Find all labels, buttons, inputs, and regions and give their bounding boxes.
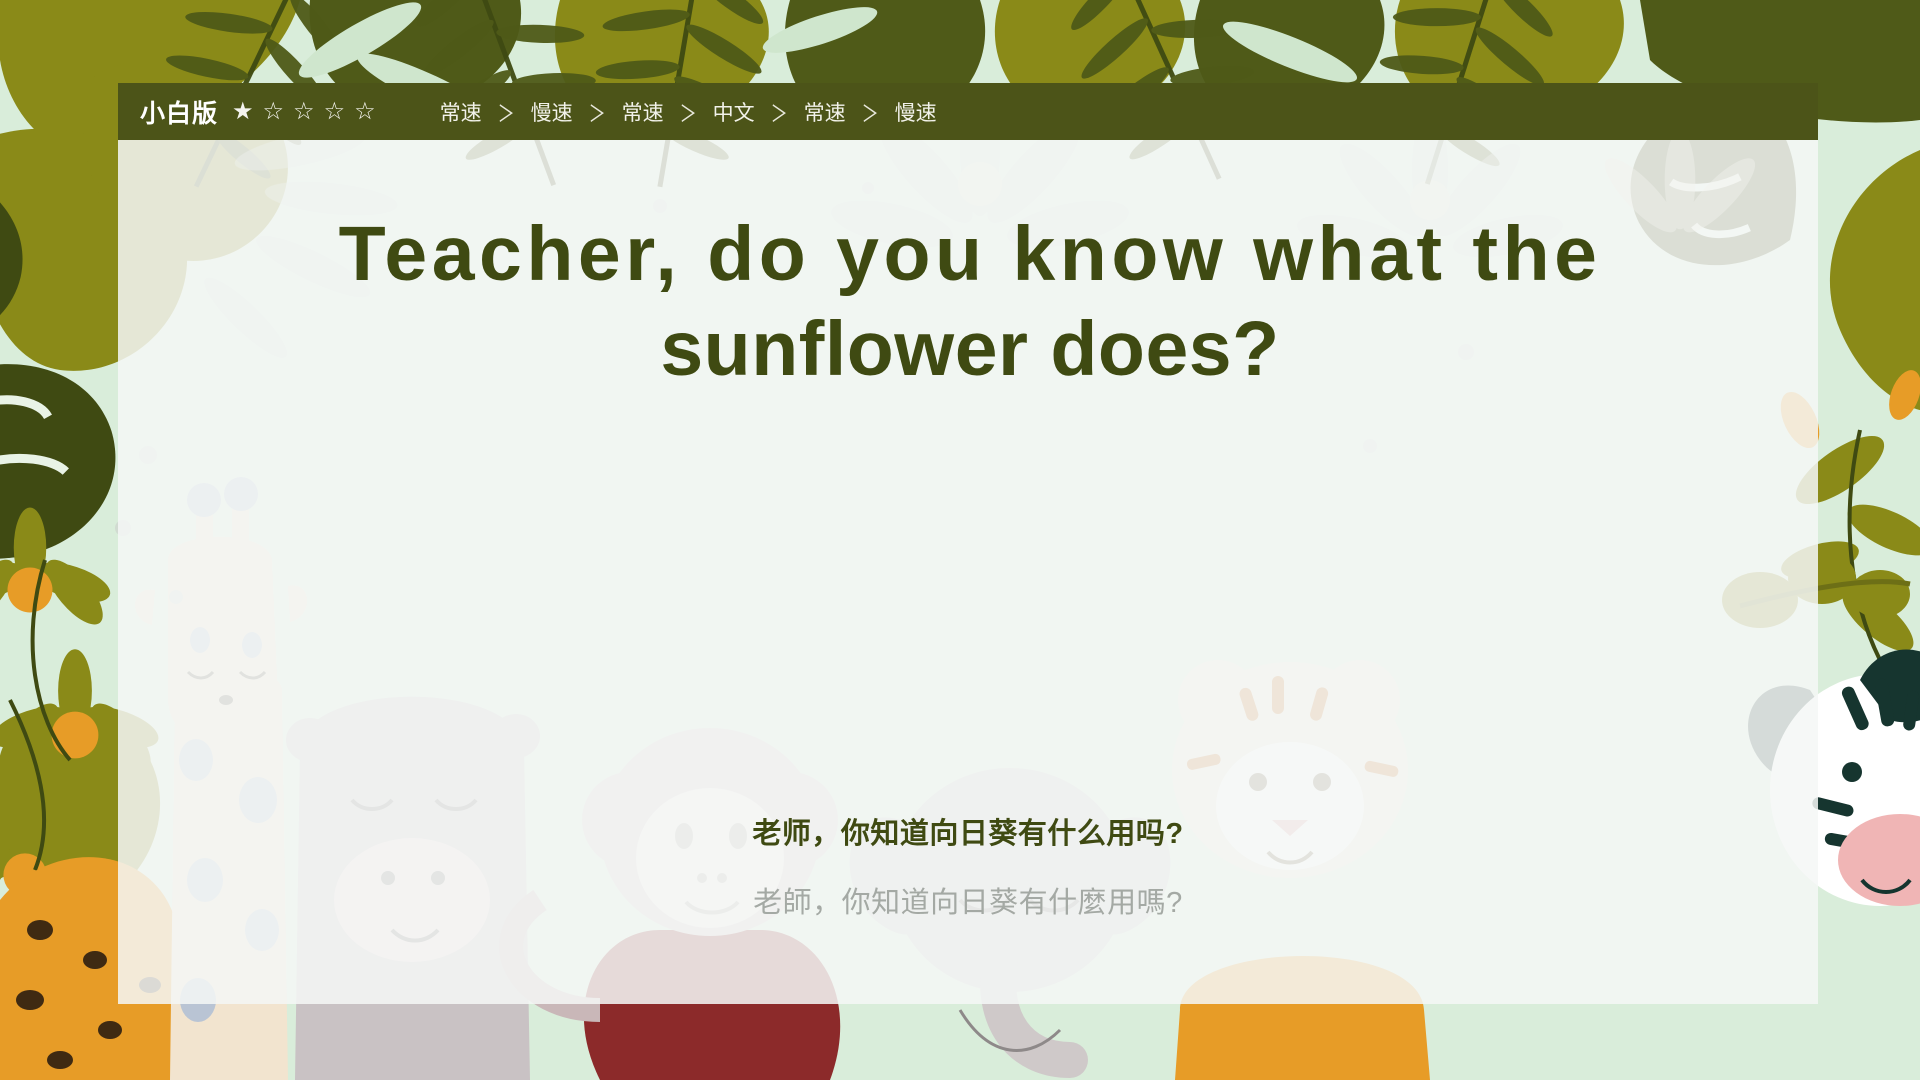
subtitle-simplified-chinese: 老师，你知道向日葵有什么用吗?	[118, 810, 1818, 852]
breadcrumb-item-5[interactable]: 常速	[802, 97, 848, 127]
chevron-right-icon: ＞	[848, 95, 893, 129]
breadcrumb-item-2[interactable]: 慢速	[529, 97, 575, 127]
breadcrumb: 常速 ＞ 慢速 ＞ 常速 ＞ 中文 ＞ 常速 ＞ 慢速	[438, 97, 939, 127]
chevron-right-icon: ＞	[484, 95, 529, 129]
title-line-2: sunflower does?	[160, 310, 1780, 389]
breadcrumb-item-1[interactable]: 常速	[438, 97, 484, 127]
slide-title: Teacher, do you know what the sunflower …	[160, 215, 1780, 388]
chevron-right-icon: ＞	[757, 95, 802, 129]
star-empty-icon[interactable]: ☆	[263, 100, 285, 124]
star-empty-icon[interactable]: ☆	[324, 100, 346, 124]
chevron-right-icon: ＞	[575, 95, 620, 129]
chevron-right-icon: ＞	[666, 95, 711, 129]
star-filled-icon[interactable]: ★	[232, 100, 254, 124]
breadcrumb-item-3[interactable]: 常速	[620, 97, 666, 127]
star-rating[interactable]: ★ ☆ ☆ ☆ ☆	[232, 100, 376, 124]
top-navigation-bar: 小白版 ★ ☆ ☆ ☆ ☆ 常速 ＞ 慢速 ＞ 常速 ＞ 中文 ＞ 常速 ＞ 慢…	[118, 83, 1818, 140]
version-badge-label: 小白版	[140, 94, 218, 130]
star-empty-icon[interactable]: ☆	[354, 100, 376, 124]
breadcrumb-item-4[interactable]: 中文	[711, 97, 757, 127]
star-empty-icon[interactable]: ☆	[293, 100, 315, 124]
subtitle-block: 老师，你知道向日葵有什么用吗? 老師，你知道向日葵有什麼用嗎?	[118, 810, 1818, 921]
subtitle-traditional-chinese: 老師，你知道向日葵有什麼用嗎?	[118, 879, 1818, 921]
breadcrumb-item-6[interactable]: 慢速	[893, 97, 939, 127]
title-line-1: Teacher, do you know what the	[160, 215, 1780, 294]
